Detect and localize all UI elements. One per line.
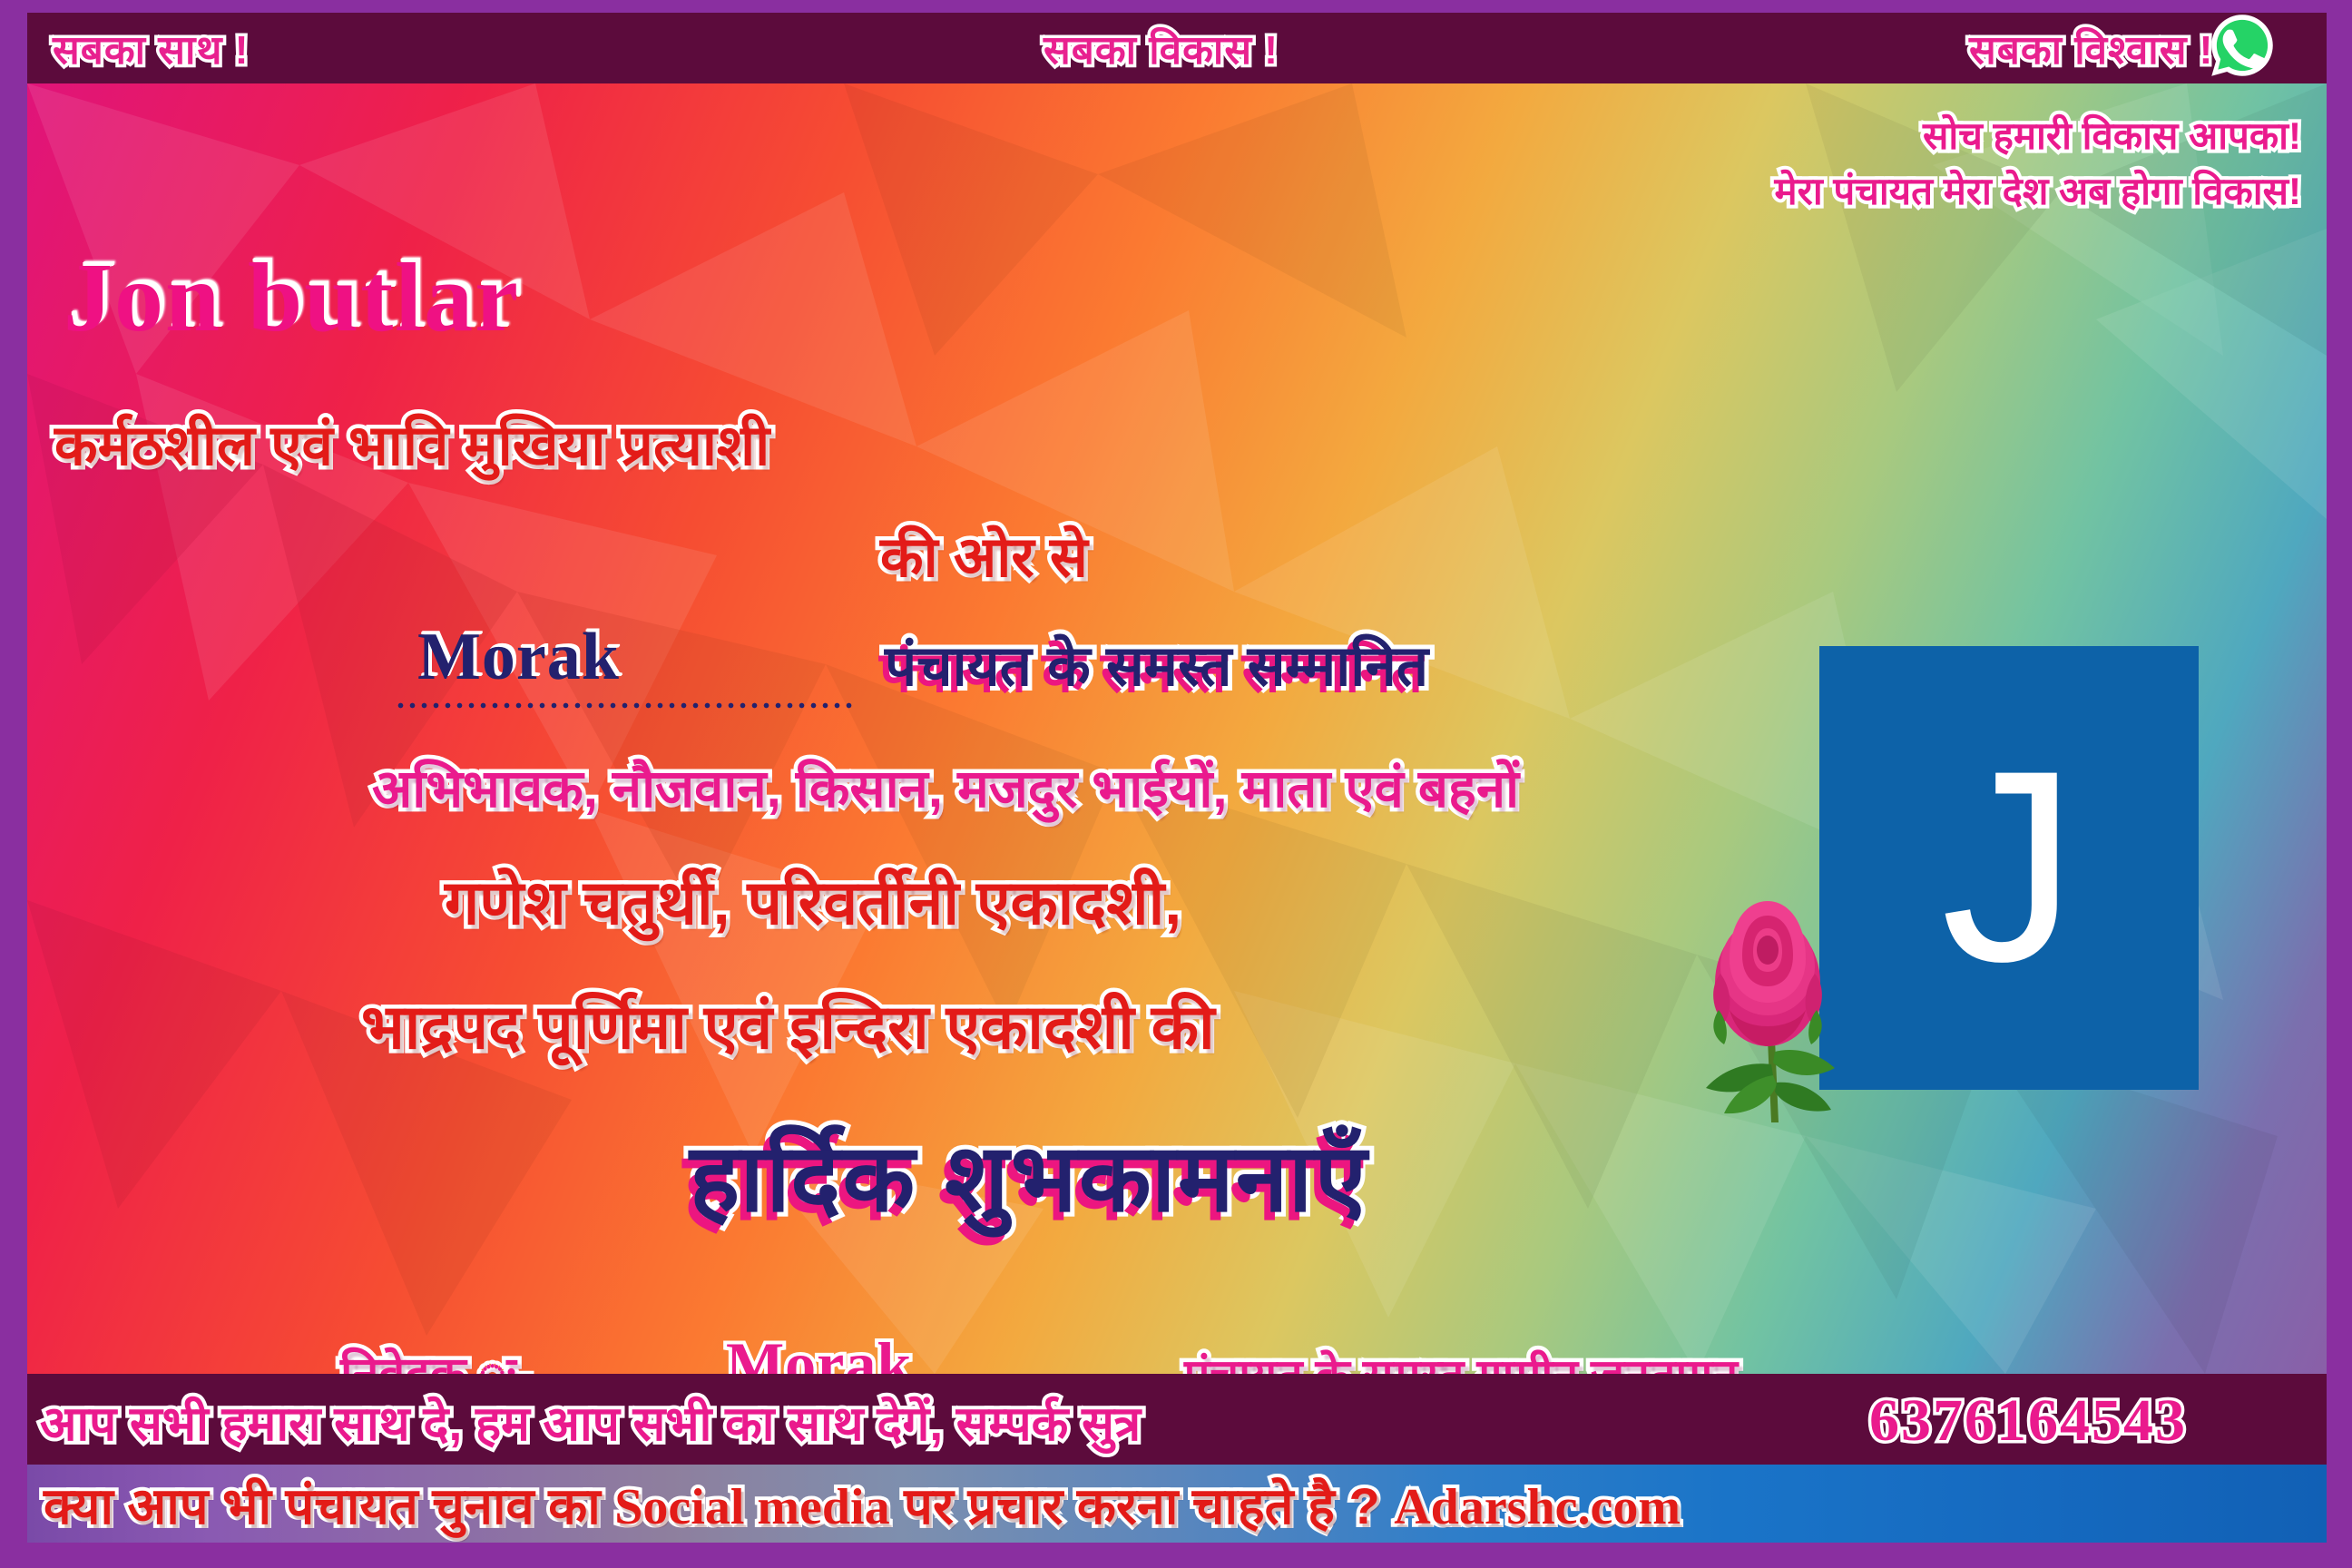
promo-prefix: क्या आप भी पंचायत चुनाव का <box>44 1477 614 1534</box>
greeting-text: हार्दिक शुभकामनाएँ <box>690 1111 1368 1239</box>
candidate-designation: कर्मठशील एवं भावि मुखिया प्रत्याशी <box>54 406 769 482</box>
contact-phone-number[interactable]: 6376164543 <box>1869 1387 2187 1455</box>
signature-label: निवेदक ः- <box>340 1340 532 1374</box>
top-slogan-bar: सबका साथ ! सबका विकास ! सबका विश्वास ! <box>27 13 2327 83</box>
slogan-sabka-vishwas: सबका विश्वास ! <box>1969 21 2213 75</box>
promo-bar: क्या आप भी पंचायत चुनाव का Social media … <box>27 1465 2327 1543</box>
message-line-2: अभिभावक, नौजवान, किसान, मजदुर भाईयों, मा… <box>372 750 1519 822</box>
tagline-line-1: सोच हमारी विकास आपका! <box>1775 109 2301 161</box>
message-line-4: भाद्रपद पूर्णिमा एवं इन्दिरा एकादशी की <box>361 982 1215 1066</box>
slogan-sabka-saath: सबका साथ ! <box>53 21 249 75</box>
poster-body: सोच हमारी विकास आपका! मेरा पंचायत मेरा द… <box>27 83 2327 1374</box>
tagline-line-2: मेरा पंचायत मेरा देश अब होगा विकास! <box>1775 164 2301 216</box>
poster-root: सबका साथ ! सबका विकास ! सबका विश्वास ! <box>0 0 2352 1568</box>
village-name-top-underline <box>395 697 853 710</box>
contact-bar: आप सभी हमारा साथ दे, हम आप सभी का साथ दे… <box>27 1374 2327 1465</box>
from-label: की ओर से <box>880 517 1088 593</box>
appeal-text: आप सभी हमारा साथ दे, हम आप सभी का साथ दे… <box>40 1388 1141 1455</box>
promo-website-link[interactable]: Adarshc.com <box>1394 1479 1681 1535</box>
promo-mid: पर प्रचार करना चाहते है ? <box>890 1477 1395 1534</box>
promo-social-media: Social media <box>614 1479 889 1535</box>
candidate-name: Jon butlar <box>64 242 520 355</box>
signature-suffix: पंचायत के समस्त ग्रामीन जनतागन <box>1184 1343 1738 1374</box>
tagline-block: सोच हमारी विकास आपका! मेरा पंचायत मेरा द… <box>1775 109 2301 216</box>
promo-text: क्या आप भी पंचायत चुनाव का Social media … <box>44 1470 1681 1539</box>
message-line-1: पंचायत के समस्त सम्मानित <box>885 626 1428 702</box>
avatar-initial: J <box>1941 754 2077 977</box>
signature-village-name: Morak <box>726 1328 912 1374</box>
village-name-top: Morak <box>417 619 620 696</box>
candidate-photo-placeholder: J <box>1819 646 2199 1090</box>
whatsapp-icon[interactable] <box>2210 13 2275 78</box>
slogan-sabka-vikas: सबका विकास ! <box>1044 21 1279 75</box>
message-line-3: गणेश चतुर्थी, परिवर्तीनी एकादशी, <box>445 857 1181 942</box>
